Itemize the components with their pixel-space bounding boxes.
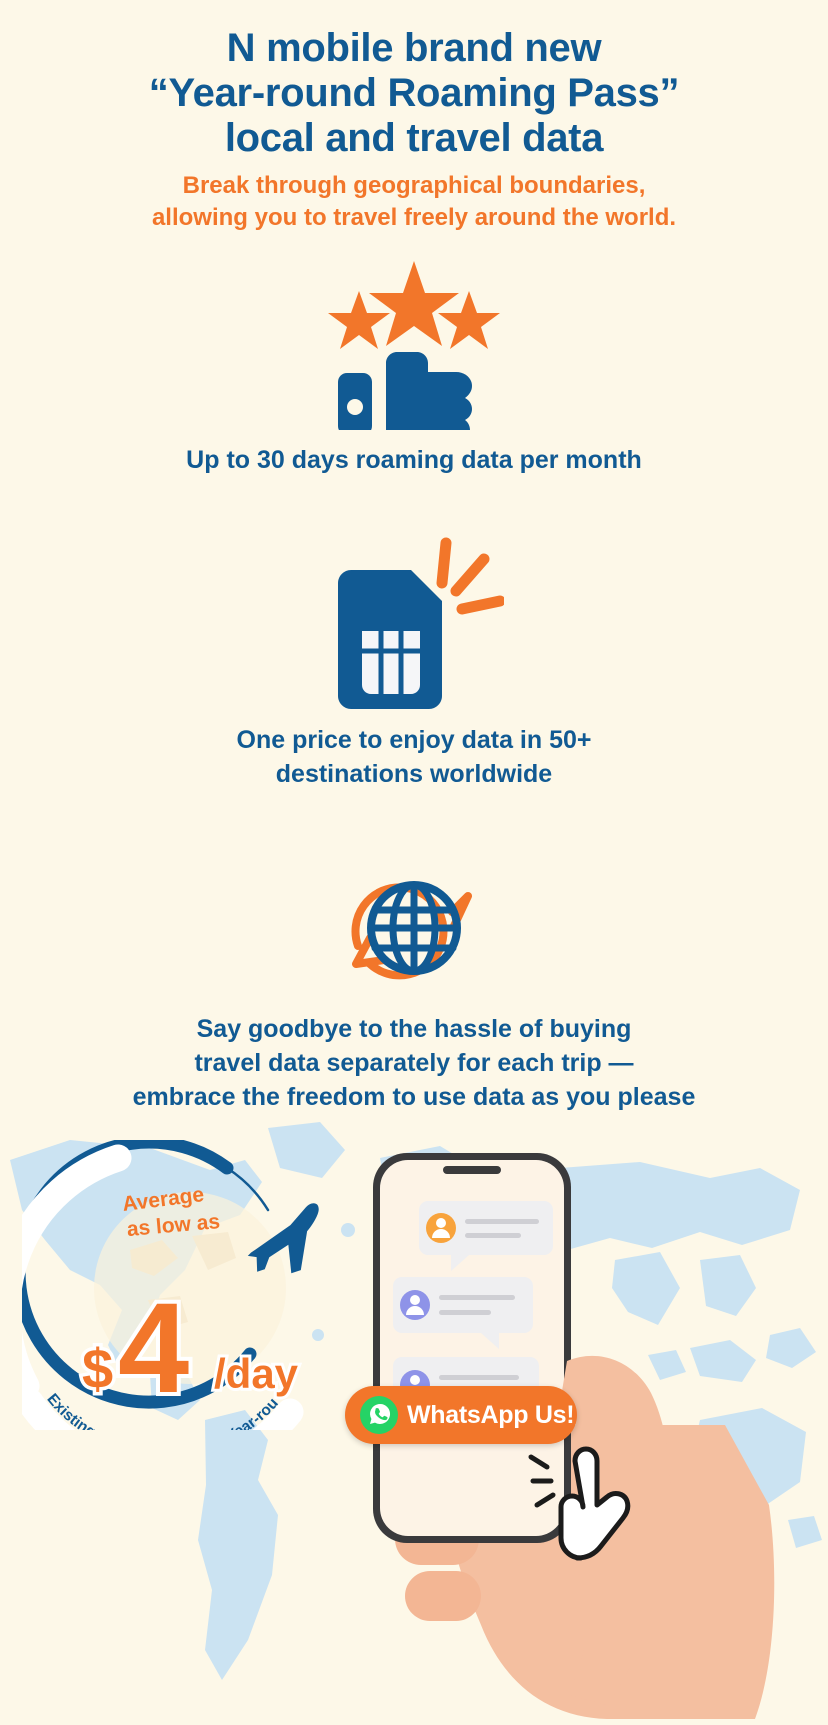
- feature-2-caption-line-2: destinations worldwide: [0, 758, 828, 792]
- feature-block-freedom: Say goodbye to the hassle of buying trav…: [0, 860, 828, 1114]
- whatsapp-cta-label: WhatsApp Us!: [407, 1401, 574, 1430]
- sim-card-icon: [0, 535, 828, 710]
- subhead-line-2: allowing you to travel freely around the…: [0, 202, 828, 234]
- feature-3-caption-line-3: embrace the freedom to use data as you p…: [0, 1081, 828, 1115]
- headline-line-2: “Year-round Roaming Pass”: [0, 71, 828, 116]
- feature-3-caption-line-1: Say goodbye to the hassle of buying: [0, 1013, 828, 1047]
- feature-3-caption-line-2: travel data separately for each trip —: [0, 1047, 828, 1081]
- thumbs-up-stars-icon: [0, 255, 828, 430]
- price-currency: $: [82, 1337, 113, 1400]
- price-per-unit: /day: [214, 1350, 299, 1397]
- whatsapp-icon: [359, 1395, 399, 1435]
- feature-3-caption: Say goodbye to the hassle of buying trav…: [0, 1013, 828, 1114]
- feature-block-one-price: One price to enjoy data in 50+ destinati…: [0, 535, 828, 792]
- page-subtitle: Break through geographical boundaries, a…: [0, 170, 828, 235]
- infographic-page: N mobile brand new “Year-round Roaming P…: [0, 0, 828, 1720]
- price-amount: 4: [118, 1277, 189, 1420]
- globe-refresh-icon: [0, 860, 828, 999]
- headline-line-1: N mobile brand new: [0, 26, 828, 71]
- feature-1-caption-line-1: Up to 30 days roaming data per month: [0, 444, 828, 478]
- feature-block-roaming-days: Up to 30 days roaming data per month: [0, 255, 828, 478]
- headline-line-3: local and travel data: [0, 116, 828, 161]
- price-badge: Existing customer add-on “Year-round Roa…: [22, 1140, 352, 1430]
- whatsapp-cta-button[interactable]: WhatsApp Us!: [345, 1386, 577, 1444]
- feature-1-caption: Up to 30 days roaming data per month: [0, 444, 828, 478]
- feature-2-caption-line-1: One price to enjoy data in 50+: [0, 724, 828, 758]
- page-title: N mobile brand new “Year-round Roaming P…: [0, 26, 828, 160]
- feature-2-caption: One price to enjoy data in 50+ destinati…: [0, 724, 828, 792]
- subhead-line-1: Break through geographical boundaries,: [0, 170, 828, 202]
